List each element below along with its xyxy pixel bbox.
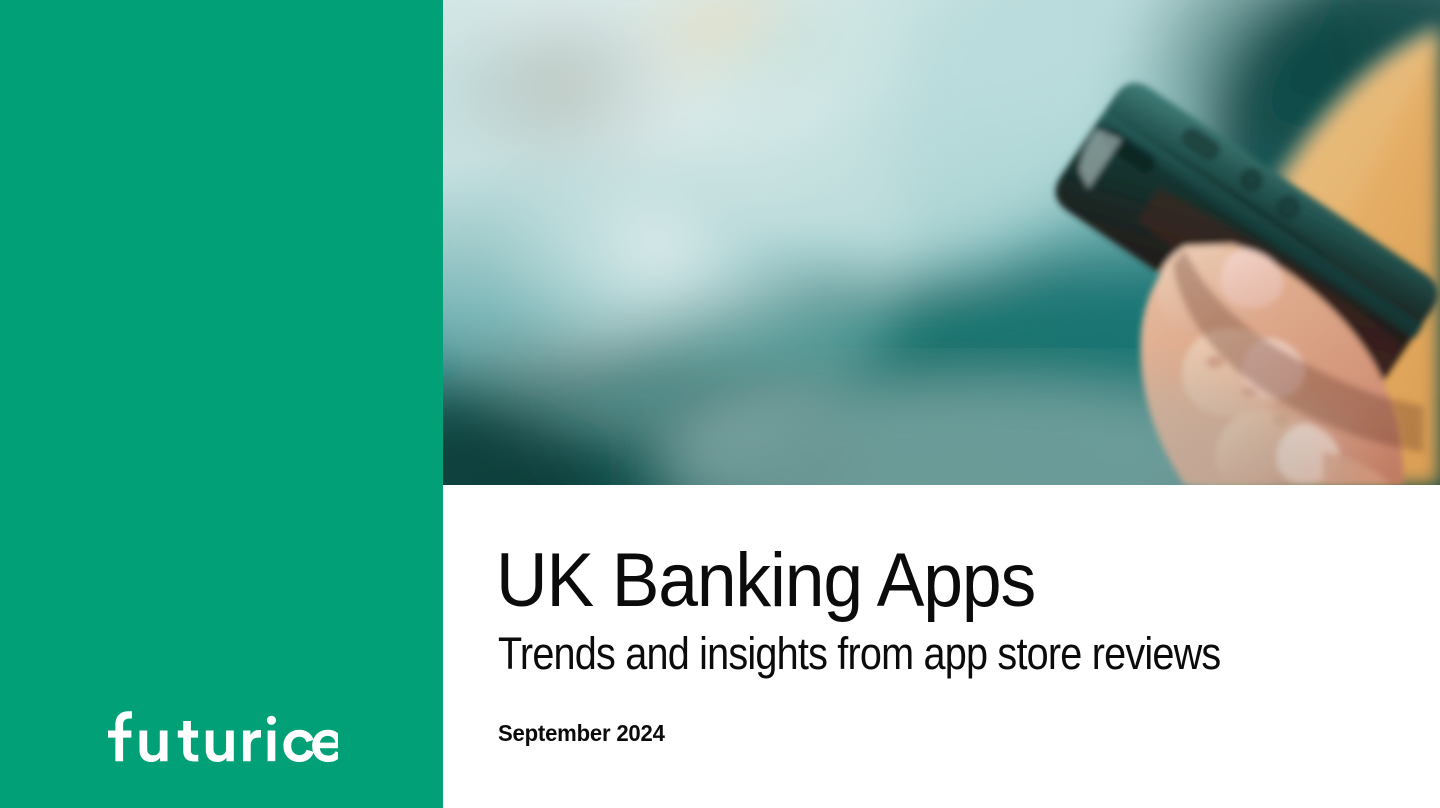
title-text-block: UK Banking Apps Trends and insights from… — [443, 485, 1440, 808]
brand-panel — [0, 0, 443, 808]
futurice-logo — [106, 708, 338, 764]
page-subtitle: Trends and insights from app store revie… — [498, 631, 1220, 676]
page-date: September 2024 — [498, 722, 665, 745]
page-title: UK Banking Apps — [496, 543, 1035, 619]
hero-photo — [443, 0, 1440, 485]
title-slide: UK Banking Apps Trends and insights from… — [0, 0, 1440, 808]
